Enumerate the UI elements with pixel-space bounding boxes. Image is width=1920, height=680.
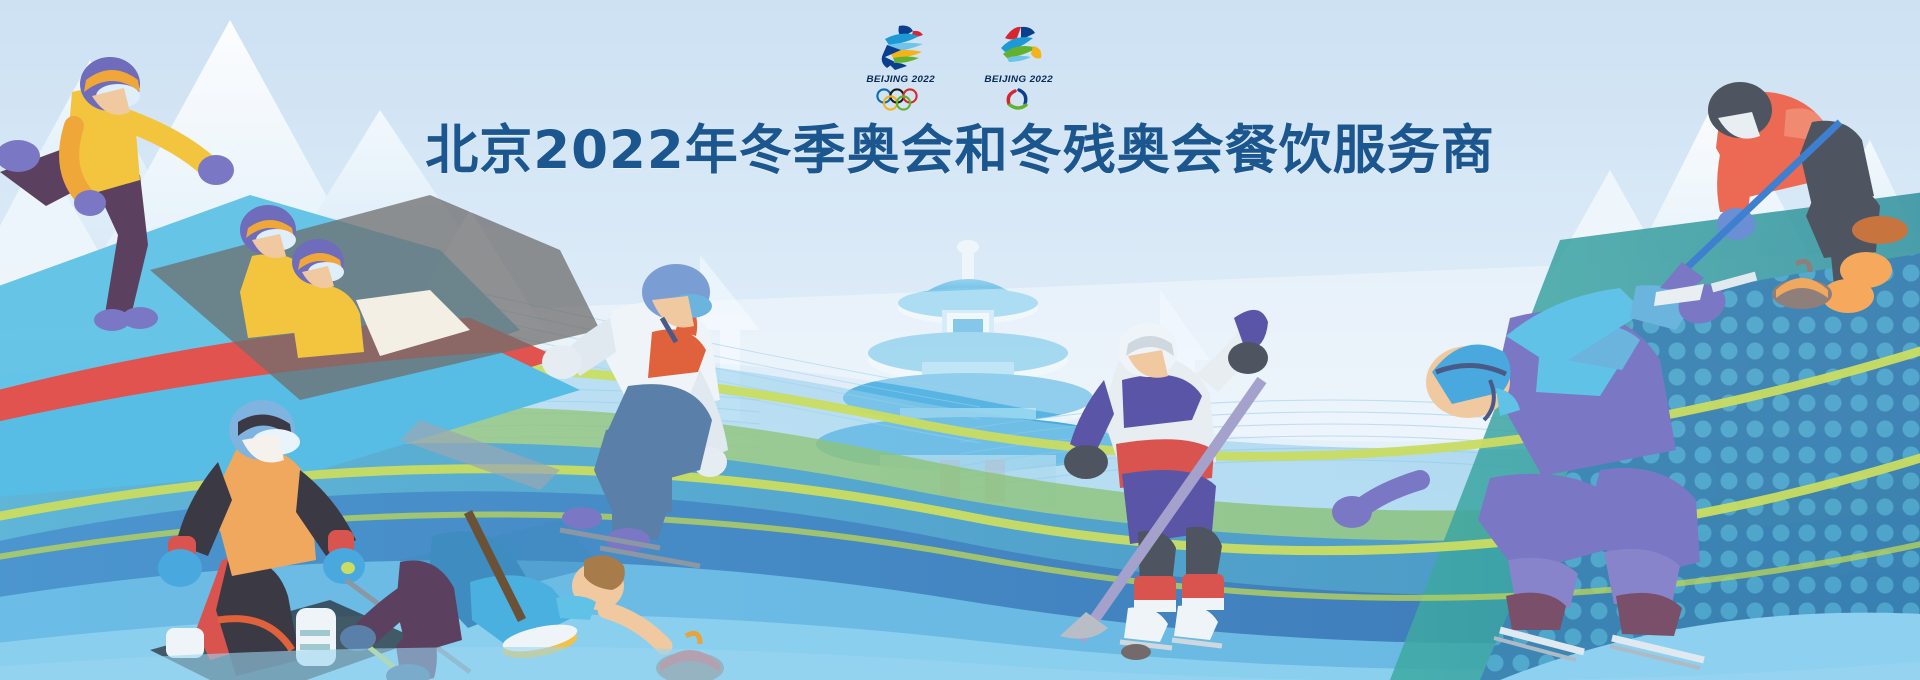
emblem-lockup: BEIJING 2022 (0, 24, 1920, 112)
olympic-rings-icon (875, 88, 927, 112)
page-title: 北京2022年冬季奥会和冬残奥会餐饮服务商 (0, 122, 1920, 180)
beijing-2022-olympic-emblem: BEIJING 2022 (853, 24, 949, 112)
olympic-wordmark: BEIJING 2022 (867, 74, 936, 85)
paralympic-wordmark: BEIJING 2022 (985, 74, 1054, 85)
paralympic-agitos-icon (1002, 88, 1036, 112)
paralympic-emblem-mark (991, 24, 1047, 70)
beijing-2022-paralympic-emblem: BEIJING 2022 (971, 24, 1067, 112)
olympic-emblem-mark (873, 24, 929, 70)
olympic-banner: BEIJING 2022 (0, 0, 1920, 680)
